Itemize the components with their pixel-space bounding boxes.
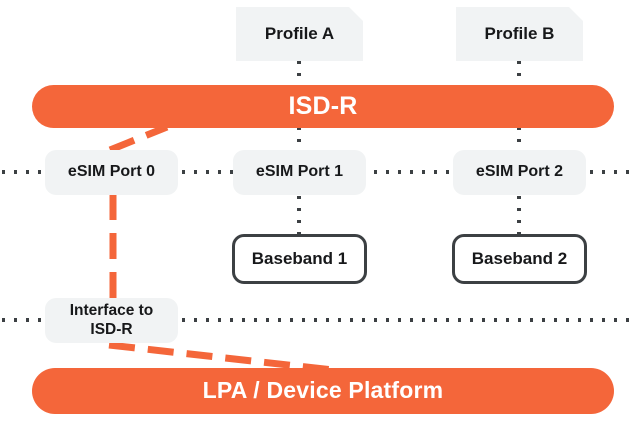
esim-port-2-label: eSIM Port 2 xyxy=(476,163,563,182)
esim-port-2-chip[interactable]: eSIM Port 2 xyxy=(453,150,586,195)
esim-port-1-label: eSIM Port 1 xyxy=(256,163,343,182)
connector-interface-to-lpa xyxy=(109,345,333,370)
lpa-device-platform-bar[interactable]: LPA / Device Platform xyxy=(32,368,614,414)
lpa-device-platform-label: LPA / Device Platform xyxy=(203,377,444,404)
isdr-bar[interactable]: ISD-R xyxy=(32,85,614,128)
esim-port-0-chip[interactable]: eSIM Port 0 xyxy=(45,150,178,195)
baseband-2-box[interactable]: Baseband 2 xyxy=(452,234,587,284)
interface-to-isdr-label-line2: ISD-R xyxy=(90,321,132,339)
interface-to-isdr-label-line1: Interface to xyxy=(70,302,154,320)
baseband-1-label: Baseband 1 xyxy=(252,249,347,269)
isdr-bar-label: ISD-R xyxy=(288,92,357,122)
baseband-2-label: Baseband 2 xyxy=(472,249,567,269)
profile-b-card[interactable]: Profile B xyxy=(456,7,583,61)
profile-a-card[interactable]: Profile A xyxy=(236,7,363,61)
esim-port-1-chip[interactable]: eSIM Port 1 xyxy=(233,150,366,195)
connector-isdr-to-port-0 xyxy=(110,127,167,150)
esim-port-0-label: eSIM Port 0 xyxy=(68,163,155,182)
baseband-1-box[interactable]: Baseband 1 xyxy=(232,234,367,284)
profile-b-label: Profile B xyxy=(485,24,555,44)
profile-a-label: Profile A xyxy=(265,24,334,44)
connector-layer xyxy=(0,0,631,427)
interface-to-isdr-chip[interactable]: Interface to ISD-R xyxy=(45,298,178,343)
esim-architecture-diagram: Profile A Profile B ISD-R eSIM Port 0 eS… xyxy=(0,0,631,427)
